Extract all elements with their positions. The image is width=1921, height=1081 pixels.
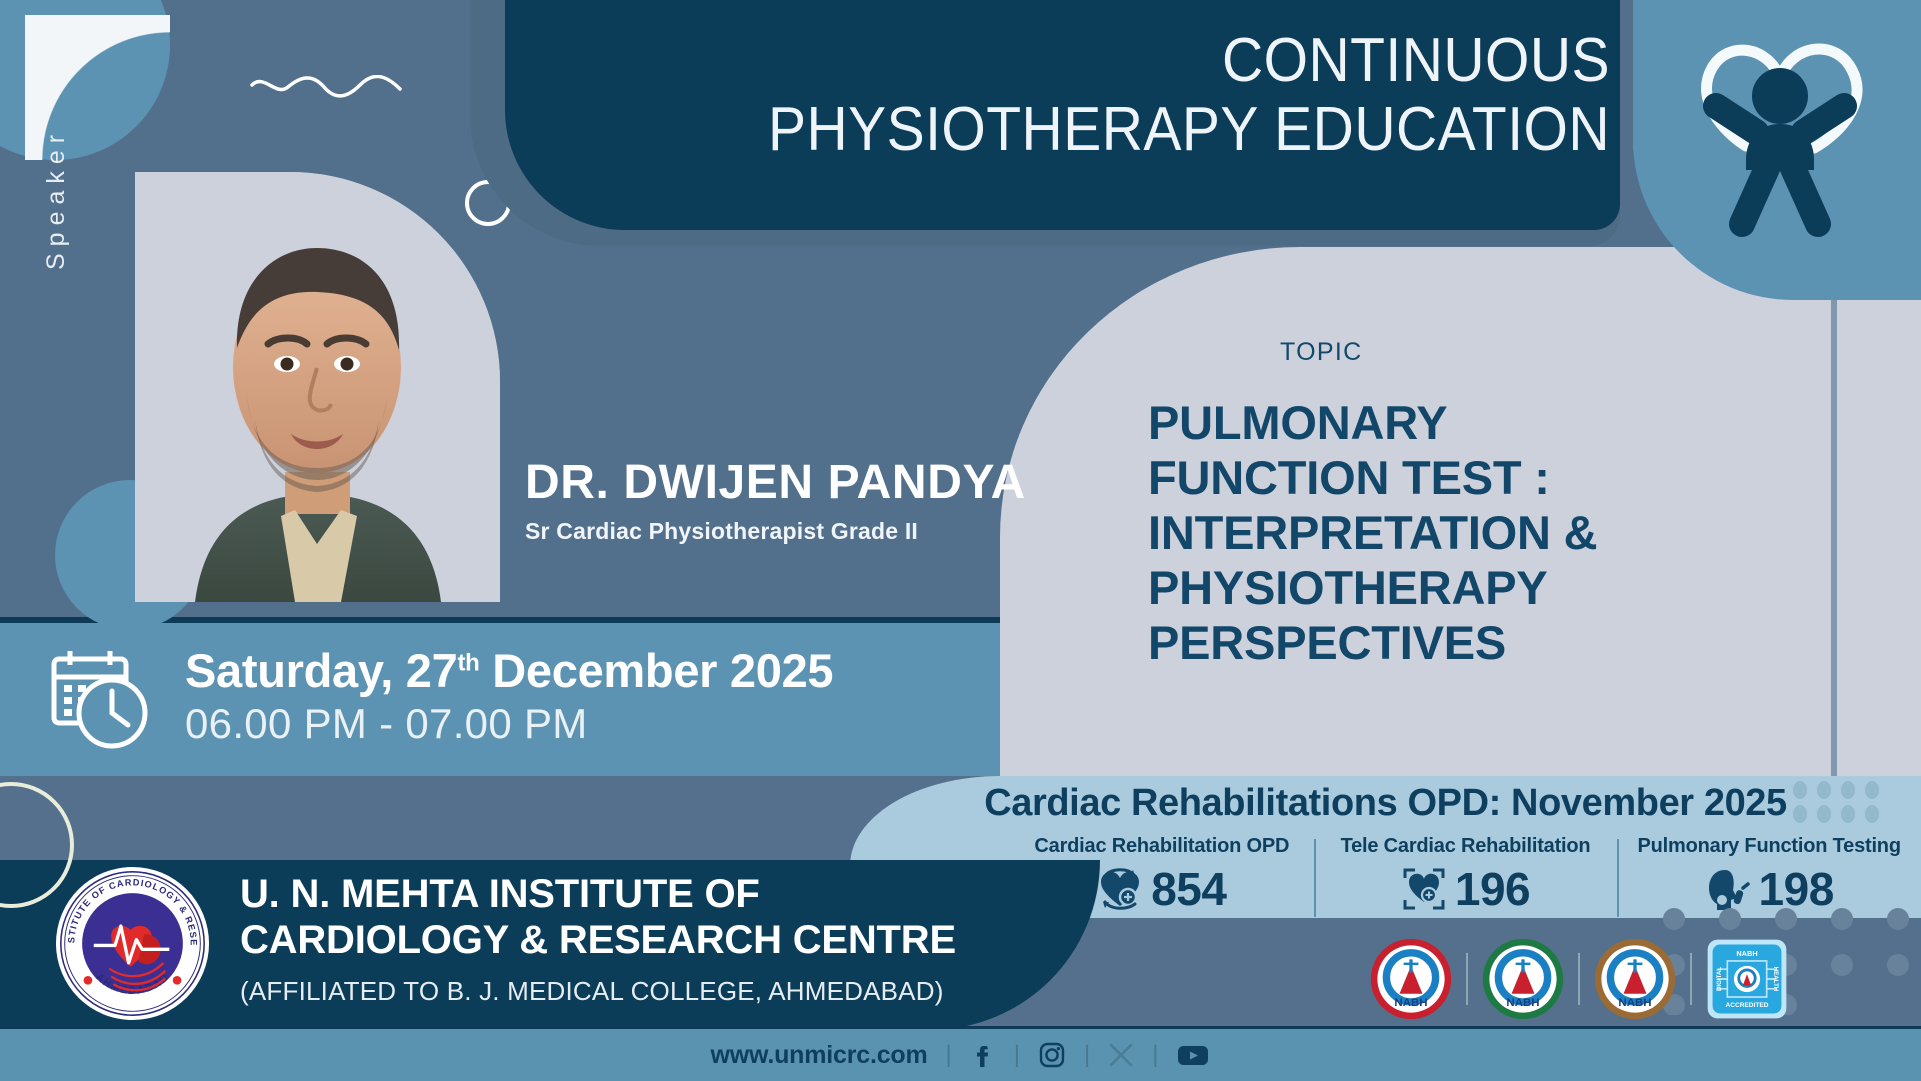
- footer-separator: |: [946, 1041, 952, 1069]
- topic-line: FUNCTION TEST :: [1148, 451, 1788, 506]
- badge-side-left: DIGITAL: [1716, 967, 1723, 991]
- squiggle-decor-icon: [250, 75, 410, 101]
- topic-panel-edge: [1831, 247, 1837, 776]
- institute-logo: U. N. MEHTA INSTITUTE OF CARDIOLOGY & RE…: [55, 866, 210, 1021]
- topic-line: INTERPRETATION &: [1148, 506, 1788, 561]
- badge-separator: [1466, 953, 1468, 1005]
- institute-name-line-1: U. N. MEHTA INSTITUTE OF: [240, 871, 956, 917]
- stats-row: Cardiac Rehabilitation OPD 854 Tele Card…: [1010, 835, 1921, 916]
- footer-separator: |: [1084, 1041, 1090, 1069]
- poster-canvas: CONTINUOUS PHYSIOTHERAPY EDUCATION Speak…: [0, 0, 1921, 1081]
- speaker-role: Sr Cardiac Physiotherapist Grade II: [525, 518, 918, 545]
- stat-value: 196: [1455, 862, 1530, 916]
- accreditation-badges: NABH NABH NABH: [1370, 938, 1788, 1020]
- event-date-ordinal: th: [457, 649, 479, 676]
- institute-name-line-2: CARDIOLOGY & RESEARCH CENTRE: [240, 917, 956, 963]
- topic-line: PERSPECTIVES: [1148, 616, 1788, 671]
- stat-label: Pulmonary Function Testing: [1617, 835, 1921, 858]
- badge-separator: [1690, 953, 1692, 1005]
- event-date-rest: December 2025: [480, 644, 834, 697]
- website-link[interactable]: www.unmicrc.com: [711, 1041, 928, 1070]
- badge-caption-top: NABH: [1736, 949, 1757, 958]
- topic-line: PHYSIOTHERAPY: [1148, 561, 1788, 616]
- event-date-main: Saturday, 27: [185, 644, 457, 697]
- badge-side-right: HEALTH: [1772, 967, 1779, 992]
- speaker-photo: [135, 172, 500, 602]
- footer: www.unmicrc.com | | | |: [0, 1029, 1921, 1081]
- stat-pulmonary-function-testing: Pulmonary Function Testing 198: [1617, 835, 1921, 916]
- calendar-clock-icon: [48, 645, 160, 753]
- event-time: 06.00 PM - 07.00 PM: [185, 700, 588, 748]
- badge-label: NABH: [1394, 997, 1427, 1009]
- badge-caption-bottom: ACCREDITED: [1726, 1002, 1769, 1009]
- institute-name: U. N. MEHTA INSTITUTE OF CARDIOLOGY & RE…: [240, 871, 956, 963]
- speaker-name: DR. DWIJEN PANDYA: [525, 455, 1026, 510]
- topic-title: PULMONARY FUNCTION TEST : INTERPRETATION…: [1148, 396, 1788, 671]
- stats-title: Cardiac Rehabilitations OPD: November 20…: [850, 782, 1921, 825]
- stat-value: 854: [1151, 862, 1226, 916]
- youtube-icon[interactable]: [1176, 1042, 1210, 1068]
- footer-separator: |: [1152, 1041, 1158, 1069]
- footer-separator: |: [1014, 1041, 1020, 1069]
- badge-label: NABH: [1506, 997, 1539, 1009]
- event-date: Saturday, 27th December 2025: [185, 643, 833, 698]
- header-line-1: CONTINUOUS: [607, 26, 1610, 95]
- page-title: CONTINUOUS PHYSIOTHERAPY EDUCATION: [607, 26, 1610, 165]
- institute-affiliation: (AFFILIATED TO B. J. MEDICAL COLLEGE, AH…: [240, 976, 944, 1007]
- speaker-section-label: Speaker: [42, 50, 71, 270]
- header-line-2: PHYSIOTHERAPY EDUCATION: [607, 95, 1610, 164]
- badge-separator: [1578, 953, 1580, 1005]
- facebook-icon[interactable]: [970, 1041, 996, 1069]
- tele-heart-icon: [1401, 866, 1447, 912]
- nabh-digital-health-badge: NABH ACCREDITED DIGITAL HEALTH: [1706, 938, 1788, 1020]
- stat-label: Tele Cardiac Rehabilitation: [1314, 835, 1618, 858]
- heart-cycle-icon: [1097, 866, 1143, 912]
- stat-label: Cardiac Rehabilitation OPD: [1010, 835, 1314, 858]
- topic-label: TOPIC: [1280, 338, 1362, 367]
- x-twitter-icon[interactable]: [1108, 1042, 1134, 1068]
- stat-tele-cardiac-rehabilitation: Tele Cardiac Rehabilitation 196: [1314, 835, 1618, 916]
- nabh-emergency-badge: NABH: [1594, 938, 1676, 1020]
- speaker-portrait-illustration: [135, 172, 500, 602]
- nabh-accredited-badge: NABH: [1370, 938, 1452, 1020]
- nabh-nursing-badge: NABH: [1482, 938, 1564, 1020]
- topic-line: PULMONARY: [1148, 396, 1788, 451]
- badge-label: NABH: [1618, 997, 1651, 1009]
- child-in-heart-icon: [1680, 20, 1880, 240]
- instagram-icon[interactable]: [1038, 1041, 1066, 1069]
